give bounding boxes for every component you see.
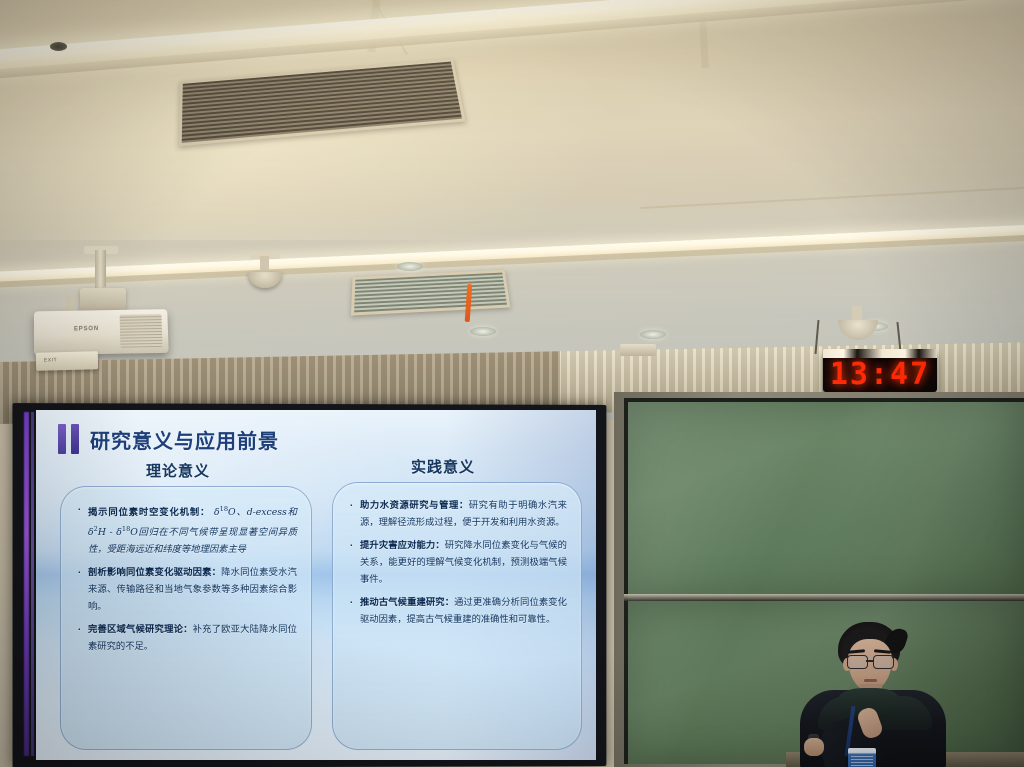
clock-time-display: 13:47: [830, 357, 930, 392]
screen-edge-light: [31, 412, 34, 756]
blackboard-panel-top: [628, 402, 1024, 594]
accent-bar-icon: [71, 424, 79, 454]
exit-sign-label: EXIT: [44, 357, 57, 363]
exit-sign: EXIT: [36, 351, 98, 371]
bullet-item: 剖析影响同位素变化驱动因素：降水同位素受水汽来源、传输路径和当地气象参数等多种因…: [75, 564, 297, 615]
glasses-icon: [846, 655, 894, 667]
bullet-item: 提升灾害应对能力：研究降水同位素变化与气候的关系，能更好的理解气候变化机制，预测…: [347, 537, 567, 588]
projector-brand-label: EPSON: [74, 326, 99, 332]
vent-slats: [354, 273, 507, 313]
wall-mounted-device: [620, 344, 656, 356]
mouth: [864, 679, 877, 682]
projector: EPSON: [34, 309, 169, 355]
slide-title: 研究意义与应用前景: [90, 425, 279, 454]
title-accent-bars: [58, 424, 79, 454]
slide-content-box-right: 助力水资源研究与管理：研究有助于明确水汽来源，理解径流形成过程，便于开发和利用水…: [332, 482, 582, 750]
screen-edge-light: [24, 412, 29, 756]
digital-clock: 13:47: [823, 352, 937, 392]
slide-title-row: 研究意义与应用前景: [58, 424, 279, 454]
classroom-scene: EPSON EXIT 13:47 研究意义与应用前景 理论意义 实践意义: [0, 0, 1024, 767]
projector-lens: [50, 42, 67, 51]
bullet-lead: 完善区域气候研究理论：: [88, 624, 193, 634]
bullet-item: 助力水资源研究与管理：研究有助于明确水汽来源，理解径流形成过程，便于开发和利用水…: [347, 497, 567, 531]
badge-text-lines: [851, 756, 873, 767]
bullet-list-right: 助力水资源研究与管理：研究有助于明确水汽来源，理解径流形成过程，便于开发和利用水…: [333, 483, 581, 628]
projector-pole: [95, 250, 106, 290]
accent-bar-icon: [58, 424, 66, 454]
hand: [804, 738, 824, 756]
recessed-downlight: [470, 327, 496, 336]
glasses-bridge: [866, 660, 873, 662]
slide-content-box-left: 揭示同位素时空变化机制： δ18O、d-excess和δ2H - δ18O回归在…: [60, 486, 312, 750]
id-badge: [848, 748, 876, 767]
recessed-downlight: [397, 262, 423, 271]
slide-subhead-right: 实践意义: [411, 456, 475, 477]
presenter: [786, 622, 966, 767]
bullet-lead: 助力水资源研究与管理：: [360, 500, 469, 510]
glasses-lens: [873, 655, 894, 669]
recessed-downlight: [640, 330, 666, 339]
bullet-lead: 提升灾害应对能力：: [360, 540, 445, 550]
bullet-list-left: 揭示同位素时空变化机制： δ18O、d-excess和δ2H - δ18O回归在…: [61, 487, 311, 655]
blackboard-chalk-rail: [624, 594, 1024, 601]
glasses-lens: [847, 655, 868, 669]
bullet-lead: 剖析影响同位素变化驱动因素：: [88, 567, 221, 577]
presentation-slide: 研究意义与应用前景 理论意义 实践意义 揭示同位素时空变化机制： δ18O、d-…: [36, 410, 596, 760]
clock-rolling-shutter-artifact: [823, 349, 937, 358]
bullet-lead: 推动古气候重建研究：: [360, 597, 454, 607]
slide-subhead-left: 理论意义: [146, 460, 210, 481]
bullet-item: 推动古气候重建研究：通过更准确分析同位素变化驱动因素，提高古气候重建的准确性和可…: [347, 594, 567, 628]
bullet-lead: 揭示同位素时空变化机制：: [88, 507, 210, 517]
projector-vent-grille: [120, 314, 163, 348]
bullet-item: 完善区域气候研究理论：补充了欧亚大陆降水同位素研究的不足。: [75, 621, 297, 655]
bullet-item: 揭示同位素时空变化机制： δ18O、d-excess和δ2H - δ18O回归在…: [75, 501, 297, 558]
